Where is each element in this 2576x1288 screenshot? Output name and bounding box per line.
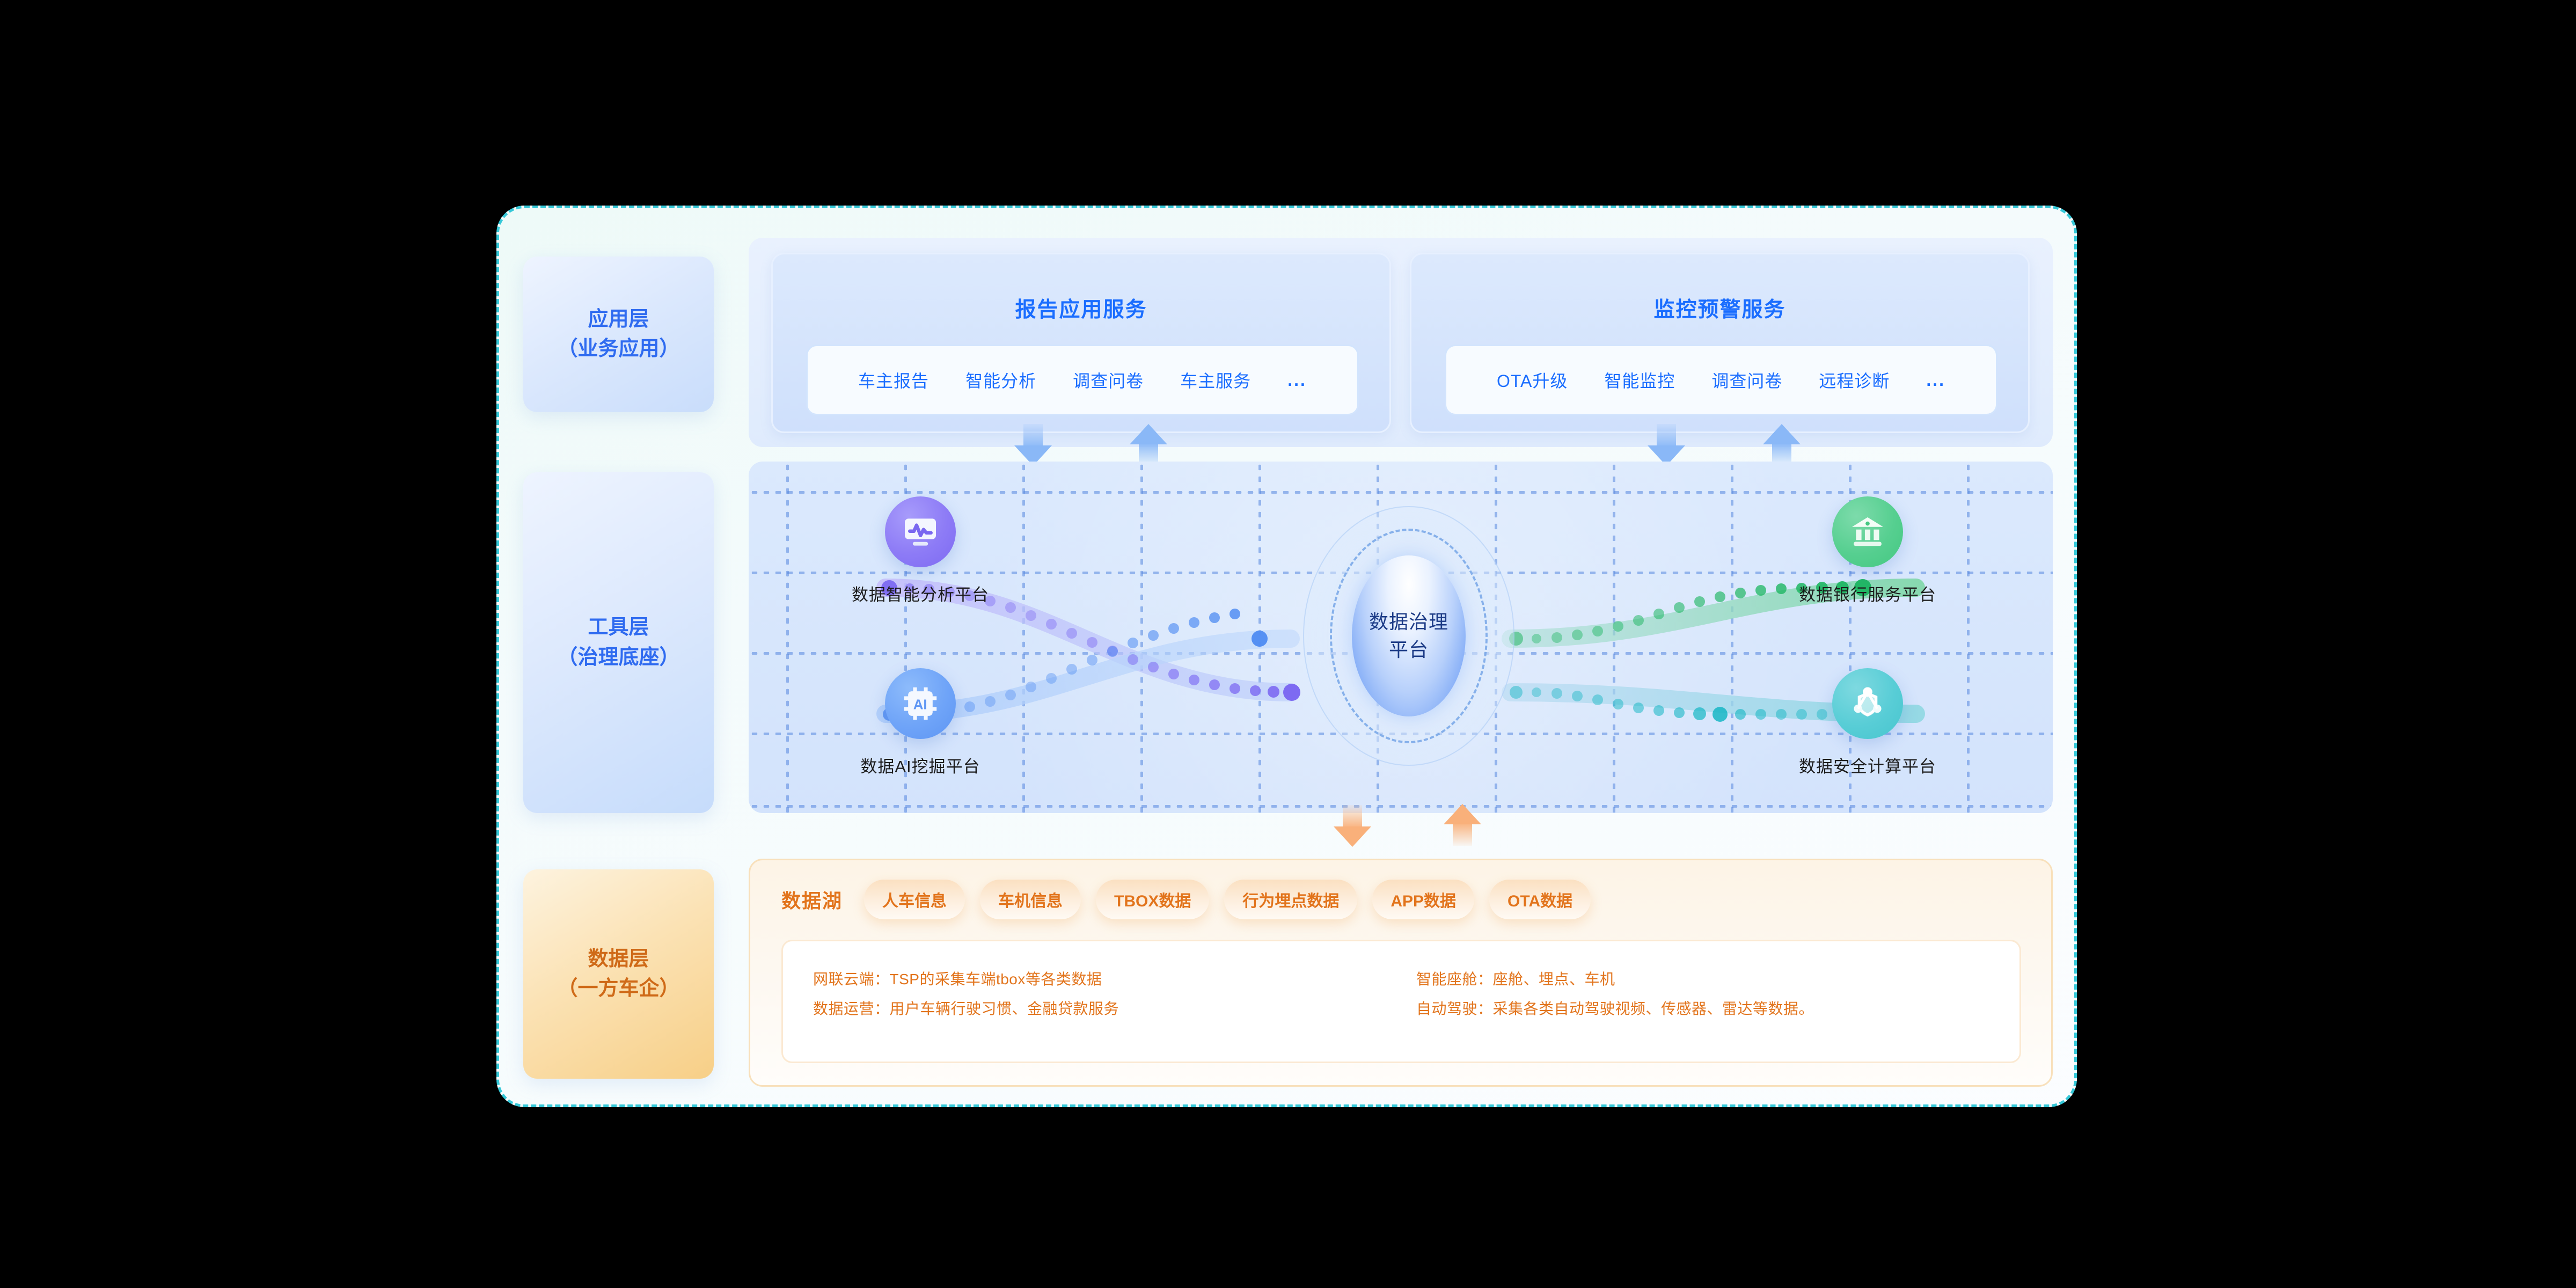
data-lake-row: 数据湖 人车信息 车机信息 TBOX数据 行为埋点数据 APP数据 OTA数据 (781, 880, 1606, 919)
service-tag[interactable]: 调查问卷 (1711, 368, 1782, 392)
arrow-up-tool-to-app-left (1130, 424, 1167, 466)
node-data-ai-platform[interactable]: AI 数据AI挖掘平台 (829, 668, 1012, 777)
service-tag[interactable]: 智能分析 (965, 368, 1036, 392)
node-label: 数据智能分析平台 (829, 581, 1012, 605)
service-card-report-title: 报告应用服务 (773, 293, 1389, 323)
node-label: 数据安全计算平台 (1776, 753, 1959, 777)
layer-application-sub: （业务应用） (557, 334, 679, 364)
arrow-down-app-to-tool-right (1648, 424, 1685, 466)
desc-column-right: 智能座舱：座舱、埋点、车机 自动驾驶：采集各类自动驾驶视频、传感器、雷达等数据。 (1386, 965, 1989, 1038)
data-lake-pill[interactable]: APP数据 (1372, 880, 1474, 919)
service-tag-more[interactable]: ... (1287, 370, 1307, 390)
data-lake-pill[interactable]: 车机信息 (980, 880, 1081, 919)
desc-column-left: 网联云端：TSP的采集车端tbox等各类数据 数据运营：用户车辆行驶习惯、金融贷… (813, 965, 1386, 1038)
service-tag[interactable]: 调查问卷 (1073, 368, 1144, 392)
service-card-monitor-taglist: OTA升级 智能监控 调查问卷 远程诊断 ... (1445, 345, 1997, 415)
service-card-monitor-title: 监控预警服务 (1411, 293, 2028, 323)
diagram-canvas: 应用层 （业务应用） 工具层 （治理底座） 数据层 （一方车企） 报告应用服务 … (0, 0, 2576, 1288)
layer-chip-application[interactable]: 应用层 （业务应用） (523, 257, 714, 412)
node-label: 数据银行服务平台 (1776, 581, 1959, 605)
arrow-up-tool-to-app-right (1763, 424, 1801, 466)
arrow-up-data-to-tool (1444, 804, 1481, 846)
service-tag[interactable]: OTA升级 (1497, 368, 1568, 392)
service-tag[interactable]: 车主报告 (858, 368, 929, 392)
data-lake-pill[interactable]: OTA数据 (1489, 880, 1591, 919)
desc-line: 智能座舱：座舱、埋点、车机 (1416, 965, 1989, 994)
service-tag[interactable]: 智能监控 (1604, 368, 1675, 392)
data-source-description: 网联云端：TSP的采集车端tbox等各类数据 数据运营：用户车辆行驶习惯、金融贷… (781, 940, 2021, 1063)
desc-line: 自动驾驶：采集各类自动驾驶视频、传感器、雷达等数据。 (1416, 994, 1989, 1024)
service-tag-more[interactable]: ... (1926, 370, 1945, 390)
layer-tool-sub: （治理底座） (557, 643, 679, 672)
data-layer-band: 数据湖 人车信息 车机信息 TBOX数据 行为埋点数据 APP数据 OTA数据 … (749, 859, 2053, 1087)
layer-data-sub: （一方车企） (557, 974, 679, 1004)
layer-tool-name: 工具层 (588, 613, 649, 642)
data-lake-title: 数据湖 (781, 885, 843, 913)
monitor-pulse-icon (885, 496, 956, 567)
layer-data-name: 数据层 (588, 945, 649, 974)
node-data-bank-platform[interactable]: 数据银行服务平台 (1776, 496, 1959, 605)
svg-text:AI: AI (913, 697, 927, 712)
desc-line: 网联云端：TSP的采集车端tbox等各类数据 (813, 965, 1386, 994)
service-tag[interactable]: 车主服务 (1180, 368, 1251, 392)
layer-chip-data[interactable]: 数据层 （一方车企） (523, 869, 714, 1079)
service-card-report[interactable]: 报告应用服务 车主报告 智能分析 调查问卷 车主服务 ... (771, 253, 1391, 433)
secure-network-icon (1832, 668, 1903, 739)
service-card-monitor[interactable]: 监控预警服务 OTA升级 智能监控 调查问卷 远程诊断 ... (1410, 253, 2030, 433)
data-lake-pill[interactable]: 人车信息 (864, 880, 965, 919)
bank-icon (1832, 496, 1903, 567)
node-data-analysis-platform[interactable]: 数据智能分析平台 (829, 496, 1012, 605)
arrow-down-app-to-tool-left (1014, 424, 1052, 466)
data-lake-pill[interactable]: 行为埋点数据 (1224, 880, 1357, 919)
data-lake-pill[interactable]: TBOX数据 (1096, 880, 1209, 919)
layer-application-name: 应用层 (588, 305, 649, 334)
node-label: 数据AI挖掘平台 (829, 753, 1012, 777)
arrow-down-tool-to-data (1334, 805, 1371, 847)
node-data-security-platform[interactable]: 数据安全计算平台 (1776, 668, 1959, 777)
desc-line: 数据运营：用户车辆行驶习惯、金融贷款服务 (813, 994, 1386, 1024)
service-tag[interactable]: 远程诊断 (1819, 368, 1890, 392)
layer-chip-tool[interactable]: 工具层 （治理底座） (523, 472, 714, 813)
ai-chip-icon: AI (885, 668, 956, 739)
service-card-report-taglist: 车主报告 智能分析 调查问卷 车主服务 ... (806, 345, 1359, 415)
application-layer-band: 报告应用服务 车主报告 智能分析 调查问卷 车主服务 ... 监控预警服务 OT… (749, 238, 2053, 447)
